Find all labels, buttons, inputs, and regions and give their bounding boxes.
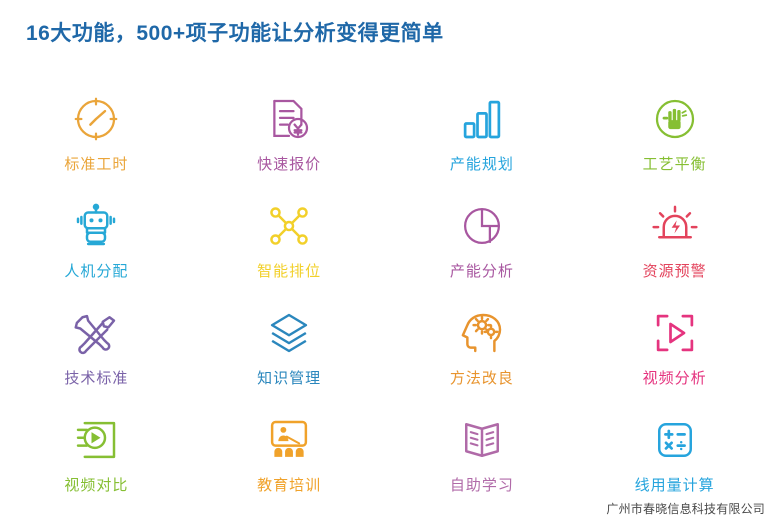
feature-label: 教育培训: [257, 478, 321, 493]
feature-item-technical-standard[interactable]: 技术标准: [0, 300, 193, 407]
feature-label: 工艺平衡: [643, 157, 707, 172]
feature-item-standard-hours[interactable]: 标准工时: [0, 86, 193, 193]
clock-icon: [69, 92, 123, 146]
video-compare-icon: [69, 413, 123, 467]
feature-item-line-usage-calculation[interactable]: 线用量计算: [578, 407, 771, 514]
tools-icon: [69, 306, 123, 360]
feature-label: 视频分析: [643, 371, 707, 386]
layers-icon: [262, 306, 316, 360]
feature-item-video-comparison[interactable]: 视频对比: [0, 407, 193, 514]
feature-label: 自助学习: [450, 478, 514, 493]
open-book-icon: [455, 413, 509, 467]
calculator-icon: [648, 413, 702, 467]
node-network-icon: [262, 199, 316, 253]
feature-item-capacity-analysis[interactable]: 产能分析: [386, 193, 579, 300]
company-watermark: 广州市春晓信息科技有限公司: [606, 500, 765, 517]
feature-label: 产能规划: [450, 157, 514, 172]
feature-item-video-analysis[interactable]: 视频分析: [578, 300, 771, 407]
feature-label: 视频对比: [64, 478, 128, 493]
robot-icon: [69, 199, 123, 253]
alarm-siren-icon: [648, 199, 702, 253]
feature-label: 知识管理: [257, 371, 321, 386]
feature-item-self-learning[interactable]: 自助学习: [386, 407, 579, 514]
feature-item-quick-quote[interactable]: 快速报价: [193, 86, 386, 193]
fist-circle-icon: [648, 92, 702, 146]
feature-label: 产能分析: [450, 264, 514, 279]
feature-item-man-machine-allocation[interactable]: 人机分配: [0, 193, 193, 300]
feature-label: 人机分配: [64, 264, 128, 279]
feature-item-method-improvement[interactable]: 方法改良: [386, 300, 579, 407]
feature-item-capacity-planning[interactable]: 产能规划: [386, 86, 579, 193]
feature-item-process-balance[interactable]: 工艺平衡: [578, 86, 771, 193]
quote-document-icon: [262, 92, 316, 146]
training-board-icon: [262, 413, 316, 467]
bar-chart-icon: [455, 92, 509, 146]
feature-item-knowledge-management[interactable]: 知识管理: [193, 300, 386, 407]
feature-item-education-training[interactable]: 教育培训: [193, 407, 386, 514]
video-scan-icon: [648, 306, 702, 360]
feature-label: 方法改良: [450, 371, 514, 386]
feature-grid: 标准工时 快速报价 产能规划: [0, 86, 771, 514]
feature-label: 资源预警: [643, 264, 707, 279]
page-title: 16大功能，500+项子功能让分析变得更简单: [26, 17, 444, 47]
feature-label: 智能排位: [257, 264, 321, 279]
pie-chart-icon: [455, 199, 509, 253]
feature-label: 快速报价: [257, 157, 321, 172]
head-gears-icon: [455, 306, 509, 360]
feature-label: 标准工时: [64, 157, 128, 172]
feature-item-resource-alert[interactable]: 资源预警: [578, 193, 771, 300]
feature-item-smart-sequencing[interactable]: 智能排位: [193, 193, 386, 300]
feature-label: 技术标准: [64, 371, 128, 386]
feature-label: 线用量计算: [635, 478, 715, 493]
